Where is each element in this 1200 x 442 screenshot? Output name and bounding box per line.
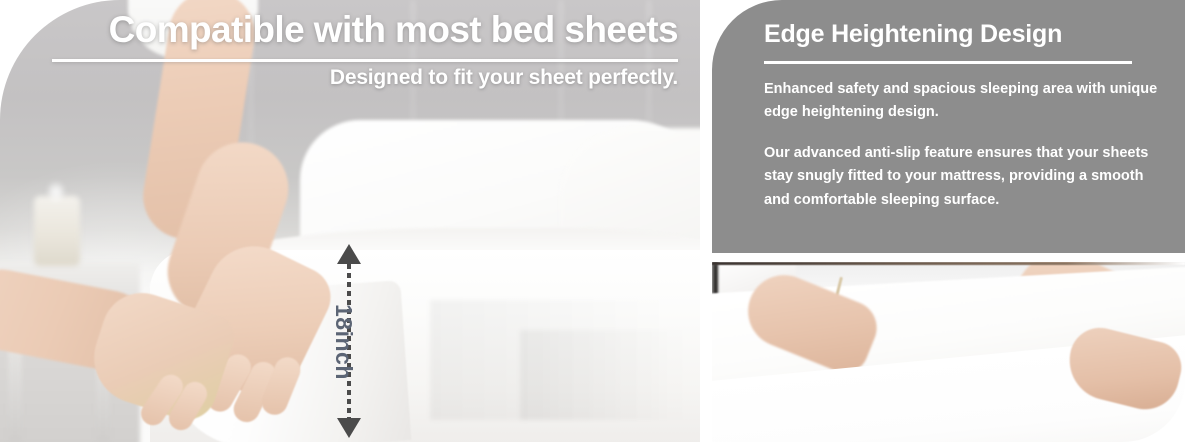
- page-title: Compatible with most bed sheets: [0, 8, 678, 52]
- card-body: Enhanced safety and spacious sleeping ar…: [764, 78, 1164, 212]
- card-title-divider: [764, 61, 1132, 64]
- arrow-up-icon: [337, 244, 361, 264]
- headline-divider: [52, 59, 678, 62]
- card-paragraph-1: Enhanced safety and spacious sleeping ar…: [764, 78, 1164, 125]
- sheet-tucking-photo: [712, 262, 1185, 442]
- photo-top-edge-decor: [712, 262, 1185, 265]
- page-subtitle: Designed to fit your sheet perfectly.: [0, 66, 678, 90]
- sheet-crease-decor: [520, 330, 690, 420]
- card-paragraph-2: Our advanced anti-slip feature ensures t…: [764, 142, 1164, 212]
- right-column: Edge Heightening Design Enhanced safety …: [712, 0, 1185, 442]
- edge-heightening-info-card: Edge Heightening Design Enhanced safety …: [712, 0, 1185, 253]
- card-title: Edge Heightening Design: [764, 20, 1062, 49]
- left-feature-panel: Compatible with most bed sheets Designed…: [0, 0, 700, 442]
- height-measurement-annotation: 18inch: [331, 244, 369, 438]
- measurement-label: 18inch: [330, 304, 357, 380]
- candle-decor: [34, 196, 80, 266]
- candle-flame-decor: [48, 182, 64, 202]
- product-feature-banner: Compatible with most bed sheets Designed…: [0, 0, 1200, 442]
- arrow-down-icon: [337, 418, 361, 438]
